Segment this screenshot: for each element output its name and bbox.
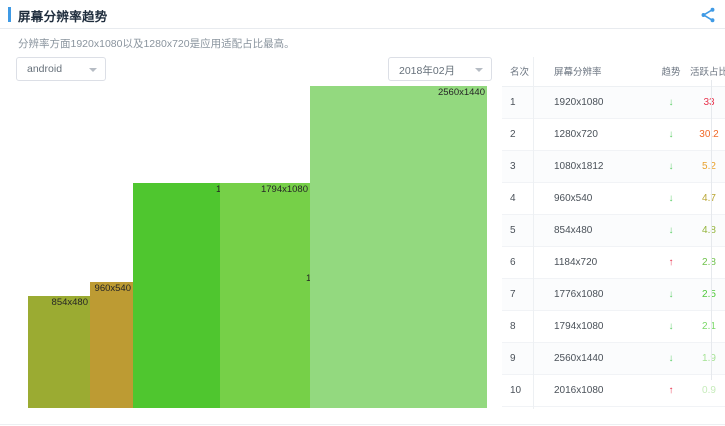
trend-up-icon: ↑ (654, 247, 688, 279)
table-row[interactable]: 4960x540↓4.7 (502, 183, 725, 215)
table-column-divider (533, 57, 534, 409)
table-header-row: 名次 屏幕分辨率 趋势 活跃占比 (502, 57, 725, 87)
cell-rank: 10 (502, 375, 544, 407)
table-row[interactable]: 71776x1080↓2.5 (502, 279, 725, 311)
cell-active-share: 4.8 (688, 215, 725, 247)
trend-down-icon: ↓ (654, 87, 688, 119)
screen-resolution-trend-panel: 屏幕分辨率趋势 分辨率方面1920x1080以及1280x720是应用适配占比最… (0, 0, 725, 426)
table-row[interactable]: 102016x1080↑0.9 (502, 375, 725, 407)
cell-resolution: 1080x1812 (544, 151, 654, 183)
cell-resolution: 854x480 (544, 215, 654, 247)
trend-down-icon: ↓ (654, 343, 688, 375)
cell-active-share: 5.2 (688, 151, 725, 183)
cell-resolution: 2016x1080 (544, 375, 654, 407)
cell-resolution: 1794x1080 (544, 311, 654, 343)
cell-active-share: 4.7 (688, 183, 725, 215)
cell-resolution: 1920x1080 (544, 87, 654, 119)
table-row[interactable]: 11920x1080↓33 (502, 87, 725, 119)
cell-rank: 9 (502, 343, 544, 375)
trend-down-icon: ↓ (654, 119, 688, 151)
share-icon[interactable] (699, 6, 717, 24)
cell-rank: 3 (502, 151, 544, 183)
cell-active-share: 0.9 (688, 375, 725, 407)
cell-rank: 7 (502, 279, 544, 311)
trend-down-icon: ↓ (654, 215, 688, 247)
trend-up-icon: ↑ (654, 375, 688, 407)
cell-rank: 2 (502, 119, 544, 151)
cell-resolution: 1184x720 (544, 247, 654, 279)
chart-bar-label: 1794x1080 (261, 184, 308, 196)
cell-active-share: 33 (688, 87, 725, 119)
column-header-rank: 名次 (502, 57, 544, 87)
cell-rank: 6 (502, 247, 544, 279)
cell-rank: 5 (502, 215, 544, 247)
cell-resolution: 1776x1080 (544, 279, 654, 311)
cell-active-share: 2.5 (688, 279, 725, 311)
chart-bar-label: 2560x1440 (438, 87, 485, 99)
cell-rank: 8 (502, 311, 544, 343)
cell-rank: 1 (502, 87, 544, 119)
chart-bar-label: 960x540 (95, 283, 131, 295)
table-row[interactable]: 92560x1440↓1.9 (502, 343, 725, 375)
cell-resolution: 2560x1440 (544, 343, 654, 375)
table-row[interactable]: 61184x720↑2.8 (502, 247, 725, 279)
trend-down-icon: ↓ (654, 151, 688, 183)
chart-bar-label: 854x480 (52, 297, 88, 309)
cell-resolution: 960x540 (544, 183, 654, 215)
trend-down-icon: ↓ (654, 311, 688, 343)
cell-rank: 4 (502, 183, 544, 215)
chart-bar: 1794x1080 (220, 183, 310, 408)
chart-bar: 960x540 (90, 282, 133, 408)
resolution-bar-chart: 854x480960x5401184x7201280x7201776x10801… (0, 0, 500, 426)
chart-bar: 854x480 (28, 296, 90, 408)
panel-bottom-rule (0, 424, 725, 425)
cell-active-share: 2.8 (688, 247, 725, 279)
chart-bar: 2560x1440 (310, 86, 487, 408)
column-header-resolution: 屏幕分辨率 (544, 57, 654, 87)
table-row[interactable]: 81794x1080↓2.1 (502, 311, 725, 343)
table-row[interactable]: 31080x1812↓5.2 (502, 151, 725, 183)
table-row[interactable]: 21280x720↓30.2 (502, 119, 725, 151)
cell-active-share: 30.2 (688, 119, 725, 151)
cell-resolution: 1280x720 (544, 119, 654, 151)
trend-down-icon: ↓ (654, 183, 688, 215)
column-header-trend: 趋势 (654, 57, 688, 87)
table-row[interactable]: 5854x480↓4.8 (502, 215, 725, 247)
column-header-share: 活跃占比 (688, 57, 725, 87)
trend-down-icon: ↓ (654, 279, 688, 311)
table-right-border (711, 80, 712, 380)
cell-active-share: 2.1 (688, 311, 725, 343)
cell-active-share: 1.9 (688, 343, 725, 375)
